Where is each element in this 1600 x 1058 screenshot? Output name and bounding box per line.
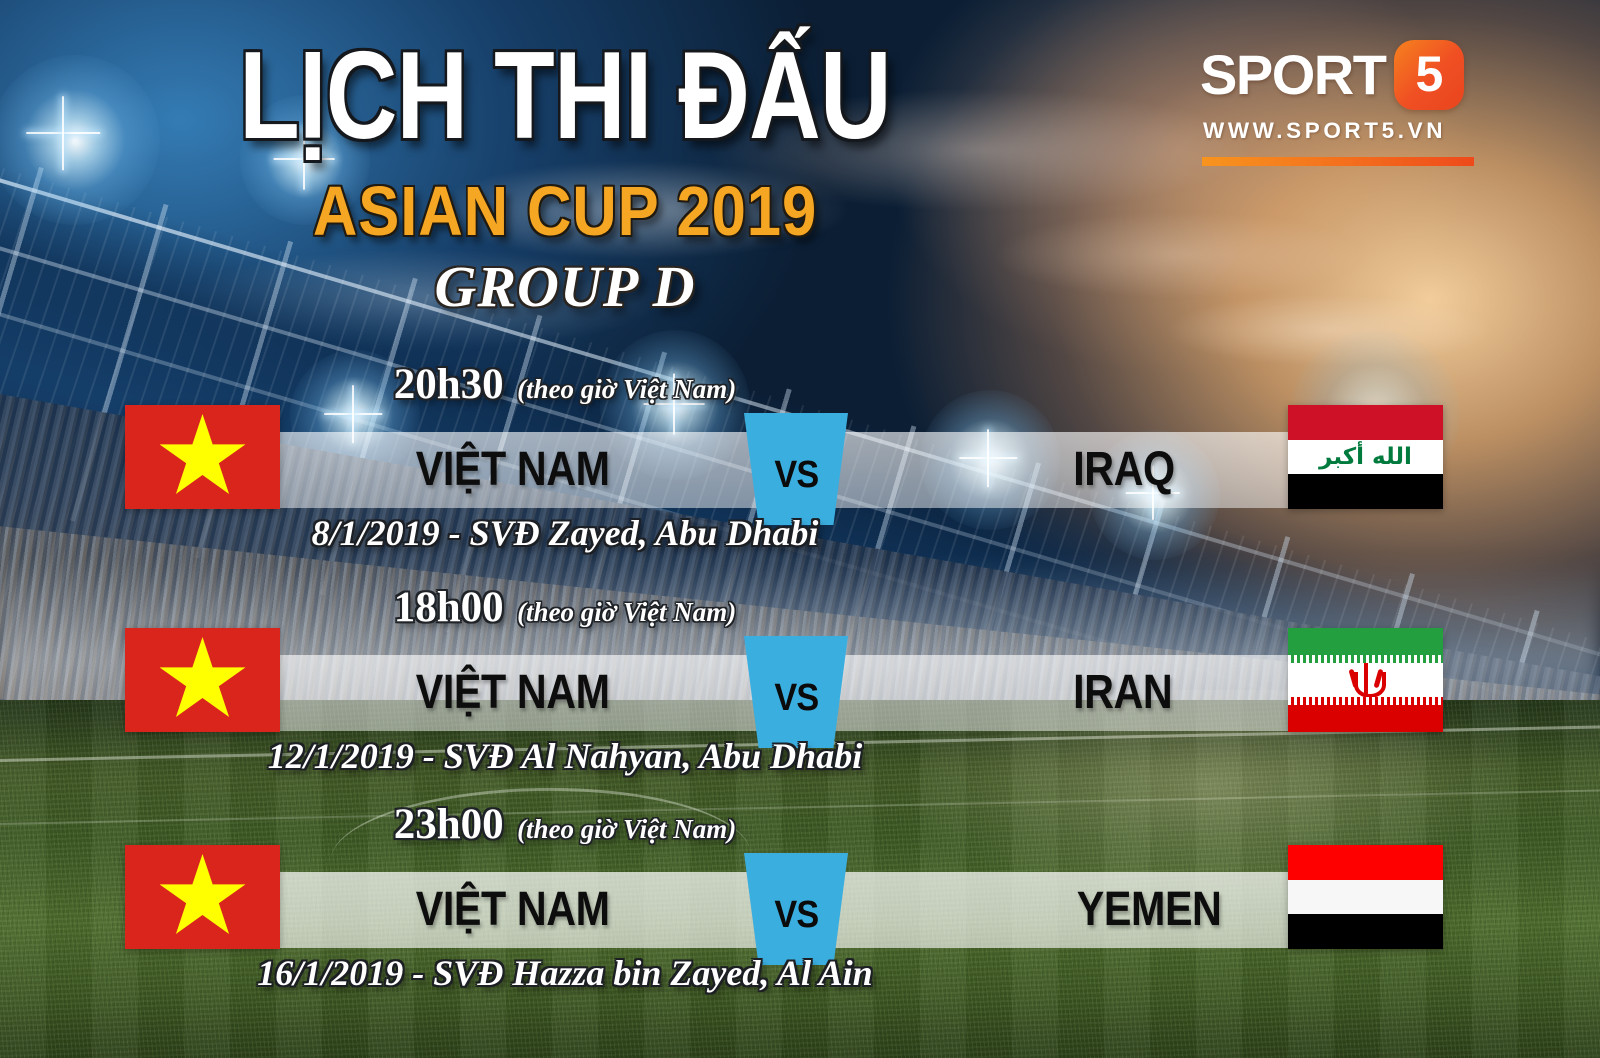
logo-badge-icon: 5 — [1394, 40, 1464, 110]
star-icon — [160, 854, 246, 940]
star-icon — [160, 637, 246, 723]
match-timezone-note: (theo giờ Việt Nam) — [517, 814, 736, 844]
vietnam-flag — [125, 628, 280, 732]
away-team-name: IRAN — [1073, 663, 1172, 723]
iraq-flag-red-stripe — [1288, 405, 1443, 440]
match-venue: 8/1/2019 - SVĐ Zayed, Abu Dhabi — [0, 512, 1130, 554]
vs-label: VS — [774, 677, 818, 720]
logo-wordmark: SPORT — [1200, 47, 1385, 103]
home-team-name: VIỆT NAM — [416, 880, 610, 940]
iran-emblem-wing-left — [1348, 669, 1358, 689]
logo-accent-bar — [1202, 157, 1474, 166]
match-venue: 16/1/2019 - SVĐ Hazza bin Zayed, Al Ain — [0, 952, 1130, 994]
logo-website-url: WWW.SPORT5.VN — [1203, 118, 1500, 144]
logo-row: SPORT 5 — [1200, 40, 1500, 110]
iraq-flag-black-stripe — [1288, 474, 1443, 509]
match-time-line: 23h00 (theo giờ Việt Nam) — [0, 800, 1130, 849]
iraq-flag-white-stripe: الله أكبر — [1288, 440, 1443, 475]
away-team-name: YEMEN — [1077, 880, 1222, 940]
yemen-flag-white-stripe — [1288, 880, 1443, 915]
tournament-subtitle: ASIAN CUP 2019 — [68, 176, 1062, 246]
match-venue: 12/1/2019 - SVĐ Al Nahyan, Abu Dhabi — [0, 735, 1130, 777]
match-kickoff-time: 23h00 — [394, 801, 504, 848]
home-team-name: VIỆT NAM — [416, 440, 610, 500]
vietnam-flag — [125, 845, 280, 949]
match-kickoff-time: 18h00 — [394, 584, 504, 631]
iran-flag — [1288, 628, 1443, 732]
yemen-flag-black-stripe — [1288, 914, 1443, 949]
iran-flag-kufic-top — [1288, 655, 1443, 663]
match-timezone-note: (theo giờ Việt Nam) — [517, 597, 736, 627]
iran-flag-kufic-bottom — [1288, 697, 1443, 705]
vs-badge: VS — [744, 413, 848, 525]
iran-flag-red-stripe — [1288, 697, 1443, 732]
match-kickoff-time: 20h30 — [394, 361, 504, 408]
match-row: 18h00 (theo giờ Việt Nam) VIỆT NAM VS IR… — [0, 583, 1600, 687]
sport5-logo[interactable]: SPORT 5 WWW.SPORT5.VN — [1200, 40, 1500, 166]
logo-badge-number: 5 — [1416, 49, 1444, 99]
iran-emblem-wing-right — [1373, 669, 1383, 689]
iraq-flag: الله أكبر — [1288, 405, 1443, 509]
vs-label: VS — [774, 454, 818, 497]
away-team-name: IRAQ — [1073, 440, 1174, 500]
vs-badge: VS — [744, 853, 848, 965]
iran-flag-green-stripe — [1288, 628, 1443, 663]
match-time-line: 18h00 (theo giờ Việt Nam) — [0, 583, 1130, 632]
iran-flag-white-stripe — [1288, 663, 1443, 698]
vs-badge: VS — [744, 636, 848, 748]
page-title: LỊCH THI ĐẤU — [113, 34, 1017, 158]
yemen-flag-red-stripe — [1288, 845, 1443, 880]
match-schedule-poster: LỊCH THI ĐẤU ASIAN CUP 2019 GROUP D SPOR… — [0, 0, 1600, 1058]
match-time-line: 20h30 (theo giờ Việt Nam) — [0, 360, 1130, 409]
home-team-name: VIỆT NAM — [416, 663, 610, 723]
yemen-flag — [1288, 845, 1443, 949]
match-timezone-note: (theo giờ Việt Nam) — [517, 374, 736, 404]
iran-emblem-icon — [1351, 663, 1381, 697]
group-label: GROUP D — [0, 258, 1130, 316]
vietnam-flag — [125, 405, 280, 509]
iraq-flag-script: الله أكبر — [1319, 446, 1412, 469]
star-icon — [160, 414, 246, 500]
vs-label: VS — [774, 894, 818, 937]
